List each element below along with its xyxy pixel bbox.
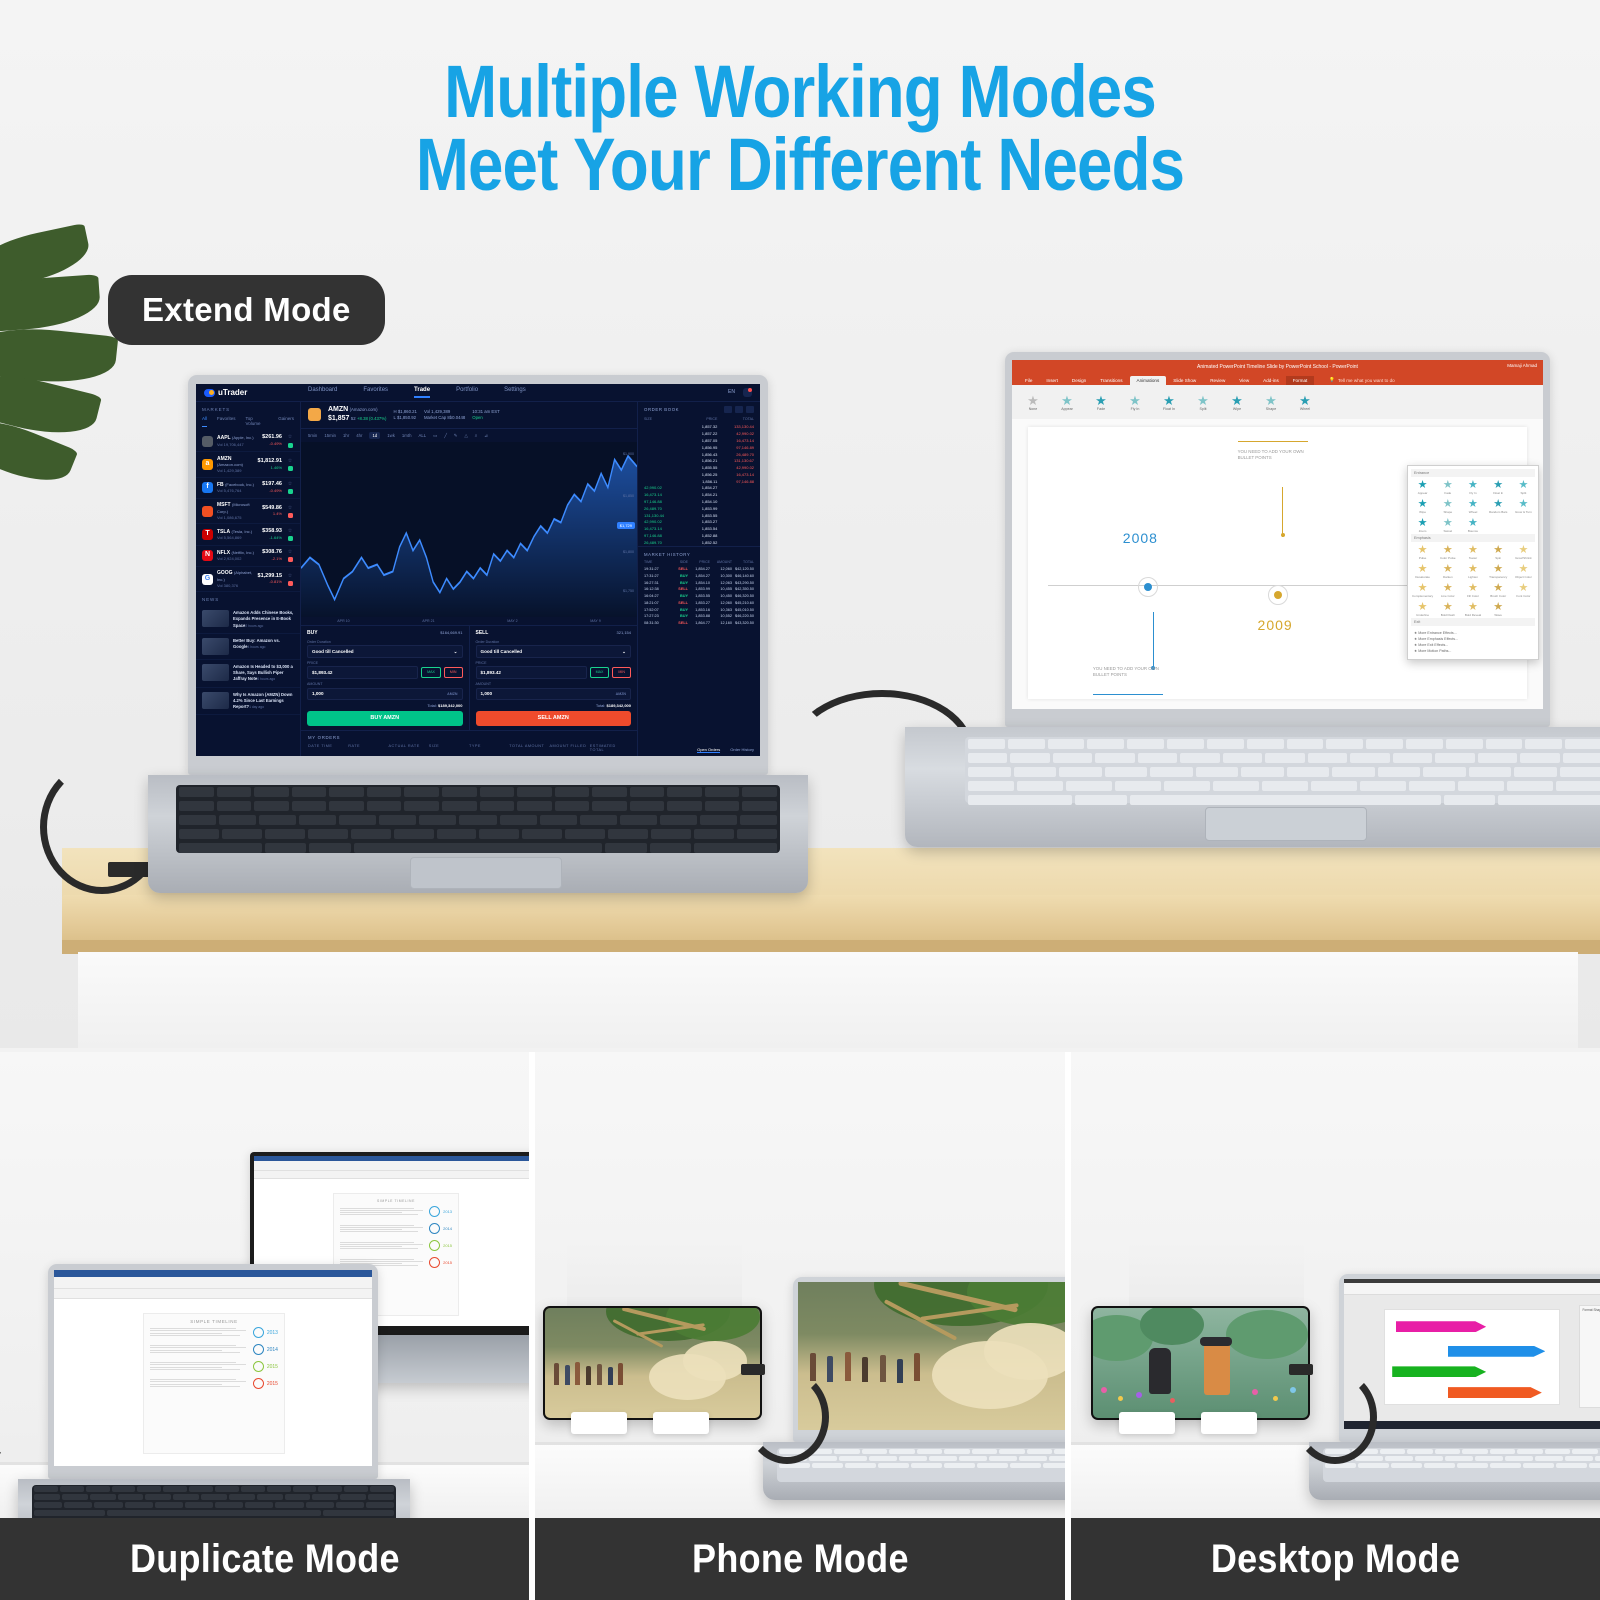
orderbook-ask-row[interactable]: 1,856.2516,473.14 (638, 471, 760, 478)
news-thumbnail (202, 610, 229, 627)
phone-device-1[interactable] (543, 1306, 762, 1420)
duplicate-front-lid: SIMPLE TIMELINE 2013201420152015 (48, 1264, 378, 1479)
chevron-down-icon: ⌄ (454, 649, 458, 655)
gallery-effect-wheel[interactable]: ★Wheel (1461, 498, 1484, 515)
chart-tool-line-icon[interactable]: ╱ (444, 433, 447, 438)
tab-design[interactable]: Design (1065, 376, 1093, 385)
sell-max-button[interactable]: MAX (590, 667, 610, 677)
star-icon: ★ (1016, 394, 1050, 407)
chart-y-label-3: $1,750 (623, 589, 634, 593)
star-icon: ★ (1461, 564, 1484, 575)
sell-price-input[interactable]: $1,893.42 (476, 666, 587, 679)
orders-column-header: TOTAL AMOUNT (509, 744, 549, 753)
timeline-entry-text (340, 1225, 426, 1234)
gallery-effect-wave[interactable]: ★Wave (1487, 601, 1510, 618)
nav-dashboard[interactable]: Dashboard (308, 387, 337, 399)
orderbook-ask-row[interactable]: 1,856.21131,130.67 (638, 457, 760, 464)
news-item[interactable]: Amazon Is Headed to $3,000 a Share, Says… (196, 660, 300, 688)
history-column-header: TIME (644, 560, 666, 564)
market-row[interactable]: MSFT (Microsoft Corp.)Vol 1,086,675$549.… (196, 499, 300, 525)
tf-1wk[interactable]: 1wk (387, 433, 395, 438)
my-orders-title: MY ORDERS (308, 735, 630, 740)
ticker-high-low: H $1,860.21 L $1,850.92 (394, 409, 417, 420)
market-price: $1,812.911.46% (258, 458, 282, 471)
star-icon: ★ (1461, 518, 1484, 529)
gallery-effect-desaturate[interactable]: ★Desaturate (1411, 563, 1434, 580)
chart-tool-pen-icon[interactable]: ✎ (454, 433, 458, 438)
history-row: 19:31:27SELL1,854.2712,060$42,120.50 (638, 566, 760, 573)
orderbook-column-header: TOTAL (717, 417, 754, 421)
ribbon-animation-none[interactable]: ★None (1016, 394, 1050, 411)
ask-price: 1,855.55 (681, 465, 718, 470)
star-icon: ★ (1411, 602, 1434, 613)
powerpoint-tabs[interactable]: File Insert Design Transitions Animation… (1012, 373, 1543, 385)
timeline-year-2008: 2008 (1123, 530, 1158, 546)
star-icon: ★ (1436, 602, 1459, 613)
orderbook-bid-row[interactable]: 16,473.141,854.21 (638, 491, 760, 498)
chart-tool-rect-icon[interactable]: ▭ (433, 433, 437, 438)
gallery-effect-font-color[interactable]: ★Font Color (1512, 582, 1535, 599)
star-icon: ★ (1050, 394, 1084, 407)
history-time: 17:27:23 (644, 614, 666, 619)
tell-me-box[interactable]: 💡 Tell me what you want to do (1322, 375, 1401, 385)
sell-amount-input[interactable]: 1,000 AMZN (476, 688, 632, 701)
gallery-effect-bounce[interactable]: ★Bounce (1461, 517, 1484, 534)
timeline-bullet-2009: YOU NEED TO ADD YOUR OWN BULLET POINTS (1238, 449, 1316, 461)
history-row: 16:27:31BUY1,854.1012,063$43,290.50 (638, 580, 760, 587)
tf-all[interactable]: ALL (418, 433, 426, 438)
timeline-stem-2008 (1153, 612, 1154, 670)
sell-total-value: $189,342,000 (607, 703, 631, 708)
orderbook-bid-row[interactable]: 26,489.701,852.52 (638, 539, 760, 546)
chart-x-label-1: APR 21 (422, 619, 434, 623)
chart-tool-bars-icon[interactable]: ⊿ (484, 433, 488, 438)
news-item[interactable]: Amazon Adds Chinese Books, Expands Prese… (196, 606, 300, 634)
buy-amount-unit: AMZN (447, 692, 457, 696)
buy-amount-input[interactable]: 1,000 AMZN (307, 688, 463, 701)
gallery-effect-split[interactable]: ★Split (1512, 479, 1535, 496)
gallery-effect-grow-turn[interactable]: ★Grow & Turn (1512, 498, 1535, 515)
tab-order-history[interactable]: Order History (730, 747, 754, 753)
markets-tab-topvolume[interactable]: Top Volume (246, 416, 269, 427)
history-amount: 12,160 (710, 621, 732, 626)
history-total: $43,290.50 (732, 581, 754, 586)
star-icon: ★ (1436, 583, 1459, 594)
laptop-right-base (905, 727, 1600, 847)
bid-size: 97,146.88 (644, 533, 681, 538)
market-row[interactable]: GGOOG (Alphabet, Inc.)Vol 380,376$1,299.… (196, 567, 300, 593)
tab-view[interactable]: View (1232, 376, 1256, 385)
timeline-ring-icon (253, 1344, 264, 1355)
gallery-effect-transparency[interactable]: ★Transparency (1487, 563, 1510, 580)
nav-favorites[interactable]: Favorites (363, 387, 388, 399)
tab-review[interactable]: Review (1203, 376, 1232, 385)
history-amount: 12,060 (710, 601, 732, 606)
gallery-effect-object-color[interactable]: ★Object Color (1512, 563, 1535, 580)
laptop-left-touchpad[interactable] (410, 857, 562, 889)
nav-settings[interactable]: Settings (504, 387, 526, 399)
favorite-star-icon[interactable]: ☆ (286, 505, 294, 518)
chart-toolbar[interactable]: 5min 15min 1hr 4hr 1d 1wk 1mth ALL ▭ ╱ ✎ (301, 429, 637, 442)
gallery-effect-fill-color[interactable]: ★Fill Color (1461, 582, 1484, 599)
star-icon: ★ (1186, 394, 1220, 407)
market-name: AMZN (Amazon.com)Vol 1,429,389 (217, 456, 254, 474)
gallery-emphasis-grid[interactable]: ★Pulse★Color Pulse★Teeter★Spin★Grow/Shri… (1411, 544, 1535, 618)
ask-size (644, 479, 681, 484)
bid-total (717, 526, 754, 531)
buy-ordertype-label: Order Duration (307, 640, 463, 644)
history-price: 1,853.16 (688, 608, 710, 613)
favorite-star-icon[interactable]: ☆ (286, 573, 294, 586)
cat-hat (1200, 1337, 1232, 1346)
utrader-logo[interactable]: uTrader (204, 388, 308, 398)
desktop-mode-lid: Format Shape (1339, 1274, 1600, 1442)
favorite-star-icon[interactable]: ☆ (286, 481, 294, 494)
language-selector[interactable]: EN (728, 389, 735, 395)
nav-portfolio[interactable]: Portfolio (456, 387, 478, 399)
ribbon-animation-wipe[interactable]: ★Wipe (1220, 394, 1254, 411)
gallery-effect-bold-flash[interactable]: ★Bold Flash (1436, 601, 1459, 618)
tab-file[interactable]: File (1018, 376, 1039, 385)
timeline-entry-text (340, 1242, 426, 1251)
timeline-entry-year: 2014 (267, 1347, 278, 1353)
gallery-effect-zoom[interactable]: ★Zoom (1411, 517, 1434, 534)
ask-price: 1,856.95 (681, 445, 718, 450)
orderbook-column-header: PRICE (681, 417, 718, 421)
history-total: $46,220.50 (732, 614, 754, 619)
laptop-right-keyboard[interactable] (965, 737, 1600, 803)
sell-ordertype-value: Good till Cancelled (481, 649, 523, 655)
orderbook-footer-tabs[interactable]: Open Orders Order History (638, 743, 760, 756)
ticker-volume-cap: Vol 1,429,389 Market Cap 8b0.0448 (424, 409, 465, 420)
orderbook-bid-row[interactable]: 131,130.441,853.55 (638, 512, 760, 519)
star-icon: ★ (1487, 583, 1510, 594)
laptop-left-lid: uTrader Dashboard Favorites Trade Portfo… (188, 375, 768, 775)
gallery-effect-underline[interactable]: ★Underline (1411, 601, 1434, 618)
nav-trade[interactable]: Trade (414, 387, 430, 399)
ribbon-animation-fly-in[interactable]: ★Fly In (1118, 394, 1152, 411)
tab-slideshow[interactable]: Slide Show (1166, 376, 1203, 385)
timeline-ring-icon (429, 1206, 440, 1217)
history-amount: 10,552 (710, 614, 732, 619)
cat-character-orange (1204, 1341, 1230, 1395)
tab-format[interactable]: Format (1286, 376, 1315, 385)
chevron-4 (1448, 1387, 1542, 1398)
chevron-3 (1392, 1366, 1486, 1377)
timeline-rows-back: 2013201420152015 (334, 1203, 458, 1271)
tf-1hr[interactable]: 1hr (343, 433, 349, 438)
presentation-app: Format Shape (1344, 1279, 1600, 1429)
star-icon: ★ (1436, 499, 1459, 510)
utrader-nav[interactable]: Dashboard Favorites Trade Portfolio Sett… (308, 387, 526, 399)
notifications-icon[interactable] (743, 388, 752, 397)
bid-size: 42,990.02 (644, 519, 681, 524)
gallery-effect-line-color[interactable]: ★Line Color (1436, 582, 1459, 599)
laptop-right-touchpad[interactable] (1205, 807, 1367, 841)
gallery-effect-teeter[interactable]: ★Teeter (1461, 544, 1484, 561)
gallery-entrance-label: Entrance (1411, 469, 1535, 477)
star-icon: ★ (1411, 545, 1434, 556)
gallery-effect-darken[interactable]: ★Darken (1436, 563, 1459, 580)
sell-amount-label: AMOUNT (476, 682, 632, 686)
ticker-low: $1,850.92 (397, 415, 416, 420)
news-text: Better Buy: Amazon vs. Google4 hours ago (233, 638, 294, 655)
utrader-body: MARKETS All Favorites Top Volume Gainers… (196, 402, 760, 756)
powerpoint-app: Animated PowerPoint Timeline Slide by Po… (1012, 360, 1543, 709)
orderbook-view-both-icon[interactable] (724, 406, 732, 413)
powerpoint-ribbon[interactable]: ★None★Appear★Fade★Fly In★Float In★Split★… (1012, 385, 1543, 420)
gallery-effect-complementary[interactable]: ★Complementary (1411, 582, 1434, 599)
orderbook-bid-row[interactable]: 42,990.021,853.27 (638, 518, 760, 525)
buy-amount-value: 1,000 (312, 691, 324, 697)
sell-ordertype-label: Order Duration (476, 640, 632, 644)
orderbook-ask-row[interactable]: 1,856.4326,489.70 (638, 451, 760, 458)
windows-taskbar[interactable] (1344, 1421, 1600, 1429)
timeline-entry-text (150, 1328, 250, 1337)
gallery-effect-swivel[interactable]: ★Swivel (1436, 517, 1459, 534)
format-shape-pane[interactable]: Format Shape (1579, 1305, 1600, 1409)
orders-column-header: DATE TIME (308, 744, 348, 753)
buy-min-button[interactable]: MIN (444, 667, 463, 677)
sell-panel: SELL 321,154 Order Duration Good till Ca… (469, 626, 638, 730)
ticker-time-status: 10:31 am EST Open (472, 409, 499, 420)
buy-ordertype-value: Good till Cancelled (312, 649, 354, 655)
laptop-left-keyboard[interactable] (176, 785, 780, 853)
star-icon: ★ (1487, 545, 1510, 556)
duplicate-front-doc: SIMPLE TIMELINE 2013201420152015 (54, 1270, 372, 1466)
star-icon: ★ (1436, 480, 1459, 491)
tab-animations[interactable]: Animations (1130, 376, 1167, 385)
favorite-star-icon[interactable]: ☆ (286, 458, 294, 471)
desktop-mode-keyboard[interactable] (1323, 1448, 1600, 1482)
history-time: 19:31:27 (644, 567, 666, 572)
market-row[interactable]: NNFLX (Netflix, Inc.)Vol 2,924,002$308.7… (196, 546, 300, 567)
sell-amzn-button[interactable]: SELL AMZN (476, 711, 632, 726)
price-chart[interactable]: $1,900 $1,850 $1,800 $1,750 $1,729 (301, 442, 637, 617)
animation-gallery-dropdown[interactable]: Entrance ★Appear★Fade★Fly In★Float In★Sp… (1407, 465, 1539, 660)
tf-4hr[interactable]: 4hr (356, 433, 362, 438)
history-time: 17:52:07 (644, 608, 666, 613)
ask-price: 1,856.11 (681, 479, 718, 484)
tf-1mth[interactable]: 1mth (402, 433, 412, 438)
tab-addins[interactable]: Add-ins (1256, 376, 1286, 385)
buy-max-button[interactable]: MAX (421, 667, 441, 677)
ribbon-animation-wheel[interactable]: ★Wheel (1288, 394, 1322, 411)
tf-15min[interactable]: 15min (324, 433, 336, 438)
gallery-effect-fly-in[interactable]: ★Fly In (1461, 479, 1484, 496)
ribbon-animation-fade[interactable]: ★Fade (1084, 394, 1118, 411)
ribbon-animation-float-in[interactable]: ★Float In (1152, 394, 1186, 411)
gallery-effect-bold-reveal[interactable]: ★Bold Reveal (1461, 601, 1484, 618)
gallery-effect-pulse[interactable]: ★Pulse (1411, 544, 1434, 561)
market-logo-icon: a (202, 459, 213, 470)
bid-total (717, 513, 754, 518)
doc-titlebar-front (54, 1270, 372, 1277)
markets-tab-favorites[interactable]: Favorites (217, 416, 236, 427)
mode-panels: SIMPLE TIMELINE 2013201420152015 (0, 1052, 1600, 1600)
buy-amzn-button[interactable]: BUY AMZN (307, 711, 463, 726)
orderbook-bid-row[interactable]: 42,990.021,854.27 (638, 485, 760, 492)
orderbook-bid-row[interactable]: 26,489.701,853.99 (638, 505, 760, 512)
bid-price: 1,853.54 (681, 526, 718, 531)
desk-base (78, 952, 1578, 1048)
orderbook-bid-row[interactable]: 97,146.881,854.10 (638, 498, 760, 505)
ribbon-animation-split[interactable]: ★Split (1186, 394, 1220, 411)
ribbon-animation-shape[interactable]: ★Shape (1254, 394, 1288, 411)
orderbook-ask-row[interactable]: 1,856.1197,146.88 (638, 478, 760, 485)
sell-ordertype-select[interactable]: Good till Cancelled ⌄ (476, 645, 632, 658)
sell-min-button[interactable]: MIN (612, 667, 631, 677)
markets-tabs[interactable]: All Favorites Top Volume Gainers (196, 416, 300, 431)
market-row[interactable]: AAPL (Apple, Inc.)Vol 19,706,447$261.96-… (196, 431, 300, 452)
ticker-change: +8.38 (0.437%) (357, 416, 387, 421)
gallery-entrance-grid[interactable]: ★Appear★Fade★Fly In★Float In★Split★Wipe★… (1411, 479, 1535, 534)
gallery-exit-label: Exit (1411, 618, 1535, 626)
trade-main: AMZN (Amazon.com) $1,857 52 +8.38 (0.437… (301, 402, 637, 756)
bid-price: 1,852.52 (681, 540, 718, 545)
bid-price: 1,852.88 (681, 533, 718, 538)
gallery-effect-float-in[interactable]: ★Float In (1487, 479, 1510, 496)
phone-stand-1a (571, 1412, 627, 1434)
desktop-mode-cable (1293, 1370, 1377, 1464)
star-icon: ★ (1512, 583, 1535, 594)
desktop-mode-label: Desktop Mode (1211, 1537, 1460, 1582)
gallery-effect-spin[interactable]: ★Spin (1487, 544, 1510, 561)
phone-mode-keyboard[interactable] (777, 1448, 1064, 1482)
star-icon: ★ (1512, 480, 1535, 491)
favorite-star-icon[interactable]: ☆ (286, 549, 294, 562)
chart-x-label-3: MAY 9 (590, 619, 600, 623)
news-thumbnail (202, 692, 229, 709)
ask-price: 1,856.43 (681, 452, 718, 457)
phone-stand-2b (1201, 1412, 1257, 1434)
timeline-bar-2009 (1238, 441, 1308, 442)
orderbook-view-icons[interactable] (724, 406, 754, 413)
gallery-effect-color-pulse[interactable]: ★Color Pulse (1436, 544, 1459, 561)
market-name: TSLA (Tesla, Inc.)Vol 5,564,869 (217, 529, 258, 540)
my-orders-section: MY ORDERS DATE TIMERATEACTUAL RATESIZETY… (301, 730, 637, 756)
tf-1d[interactable]: 1d (369, 432, 380, 439)
tab-open-orders[interactable]: Open Orders (697, 747, 720, 753)
markets-title: MARKETS (196, 402, 300, 416)
utrader-brand: uTrader (218, 388, 247, 398)
gallery-effect-shape[interactable]: ★Shape (1436, 498, 1459, 515)
news-thumbnail (202, 664, 229, 681)
market-status: Open (472, 415, 483, 420)
lightbulb-icon: 💡 (1329, 377, 1335, 383)
ticker-info: AMZN (Amazon.com) $1,857 52 +8.38 (0.437… (328, 406, 387, 424)
star-icon: ★ (1461, 480, 1484, 491)
tab-insert[interactable]: Insert (1039, 376, 1065, 385)
news-item[interactable]: Better Buy: Amazon vs. Google4 hours ago (196, 634, 300, 660)
history-amount: 12,060 (710, 567, 732, 572)
market-row[interactable]: aAMZN (Amazon.com)Vol 1,429,389$1,812.91… (196, 452, 300, 478)
market-row[interactable]: fFB (Facebook, Inc.)Vol 5,476,764$197.46… (196, 478, 300, 499)
phone-device-2[interactable] (1091, 1306, 1310, 1420)
market-timezone: EST (491, 409, 499, 414)
ribbon-animation-appear[interactable]: ★Appear (1050, 394, 1084, 411)
markets-tab-all[interactable]: All (202, 416, 207, 427)
orderbook-ask-row[interactable]: 1,857.0516,473.14 (638, 437, 760, 444)
buy-price-input[interactable]: $1,893.42 (307, 666, 418, 679)
chart-tool-zoom-icon[interactable]: ⌕ (475, 433, 477, 438)
star-icon: ★ (1411, 499, 1434, 510)
orderbook-bid-row[interactable]: 16,473.141,853.54 (638, 525, 760, 532)
news-item[interactable]: Why Is Amazon (AMZN) Down 4.2% Since Las… (196, 688, 300, 716)
ask-total: 16,473.14 (717, 438, 754, 443)
orderbook-ask-row[interactable]: 1,856.9597,146.89 (638, 444, 760, 451)
orderbook-bid-row[interactable]: 97,146.881,852.88 (638, 532, 760, 539)
doc-title-back: SIMPLE TIMELINE (334, 1194, 458, 1203)
ask-price: 1,857.05 (681, 438, 718, 443)
buy-balance: $164,669.91 (440, 630, 462, 636)
ask-size (644, 445, 681, 450)
gallery-effect-wipe[interactable]: ★Wipe (1411, 498, 1434, 515)
utrader-header-right: EN (728, 388, 752, 397)
gallery-effect-appear[interactable]: ★Appear (1411, 479, 1434, 496)
markets-tab-gainers[interactable]: Gainers (278, 416, 294, 427)
bid-total (717, 499, 754, 504)
star-icon: ★ (1512, 564, 1535, 575)
buy-ordertype-select[interactable]: Good till Cancelled ⌄ (307, 645, 463, 658)
market-logo-icon: G (202, 574, 213, 585)
chart-price-marker: $1,729 (617, 522, 635, 529)
timeline-ring-icon (253, 1361, 264, 1372)
star-icon: ★ (1411, 583, 1434, 594)
gallery-effect-fade[interactable]: ★Fade (1436, 479, 1459, 496)
orderbook-view-asks-icon[interactable] (746, 406, 754, 413)
timeline-node-2009 (1268, 585, 1288, 605)
orderbook-ask-row[interactable]: 1,857.2242,990.02 (638, 430, 760, 437)
orderbook-ask-row[interactable]: 1,857.32133,130.44 (638, 423, 760, 430)
orderbook-ask-row[interactable]: 1,855.5542,990.02 (638, 464, 760, 471)
news-title: NEWS (196, 592, 300, 606)
bid-size: 131,130.44 (644, 513, 681, 518)
market-price: $1,299.15-0.81% (258, 573, 282, 586)
history-side: BUY (666, 581, 688, 586)
market-history-title: MARKET HISTORY (638, 546, 760, 560)
bid-size: 16,473.14 (644, 526, 681, 531)
buy-total: Total: $189,342,000 (307, 703, 463, 708)
gallery-effect-random-bars[interactable]: ★Random Bars (1487, 498, 1510, 515)
market-row[interactable]: TTSLA (Tesla, Inc.)Vol 5,564,869$358.93-… (196, 524, 300, 545)
favorite-star-icon[interactable]: ☆ (286, 434, 294, 447)
prez-slide[interactable] (1384, 1309, 1560, 1405)
laptop-right-screen: Animated PowerPoint Timeline Slide by Po… (1012, 360, 1543, 709)
gallery-more-item[interactable]: ★ More Motion Paths... (1414, 648, 1532, 654)
gallery-effect-grow-shrink[interactable]: ★Grow/Shrink (1512, 544, 1535, 561)
buy-total-value: $189,342,000 (438, 703, 462, 708)
history-time: 16:04:27 (644, 594, 666, 599)
favorite-star-icon[interactable]: ☆ (286, 528, 294, 541)
tf-5min[interactable]: 5min (308, 433, 317, 438)
chart-tool-triangle-icon[interactable]: △ (464, 433, 467, 438)
market-logo-icon (202, 436, 213, 447)
orderbook-view-bids-icon[interactable] (735, 406, 743, 413)
history-column-header: SIDE (666, 560, 688, 564)
gallery-more-effects[interactable]: ★ More Entrance Effects...★ More Emphasi… (1411, 628, 1535, 656)
market-name: GOOG (Alphabet, Inc.)Vol 380,376 (217, 570, 254, 588)
timeline-entry: 2015 (144, 1375, 284, 1392)
my-orders-columns: DATE TIMERATEACTUAL RATESIZETYPETOTAL AM… (308, 744, 630, 753)
gallery-effect-lighten[interactable]: ★Lighten (1461, 563, 1484, 580)
tab-transitions[interactable]: Transitions (1093, 376, 1129, 385)
gallery-effect-brush-color[interactable]: ★Brush Color (1487, 582, 1510, 599)
headline-line-2: Meet Your Different Needs (112, 128, 1488, 201)
news-thumbnail (202, 638, 229, 655)
doc-page-front: SIMPLE TIMELINE 2013201420152015 (143, 1313, 285, 1454)
ticker-high-label: H (394, 409, 397, 414)
